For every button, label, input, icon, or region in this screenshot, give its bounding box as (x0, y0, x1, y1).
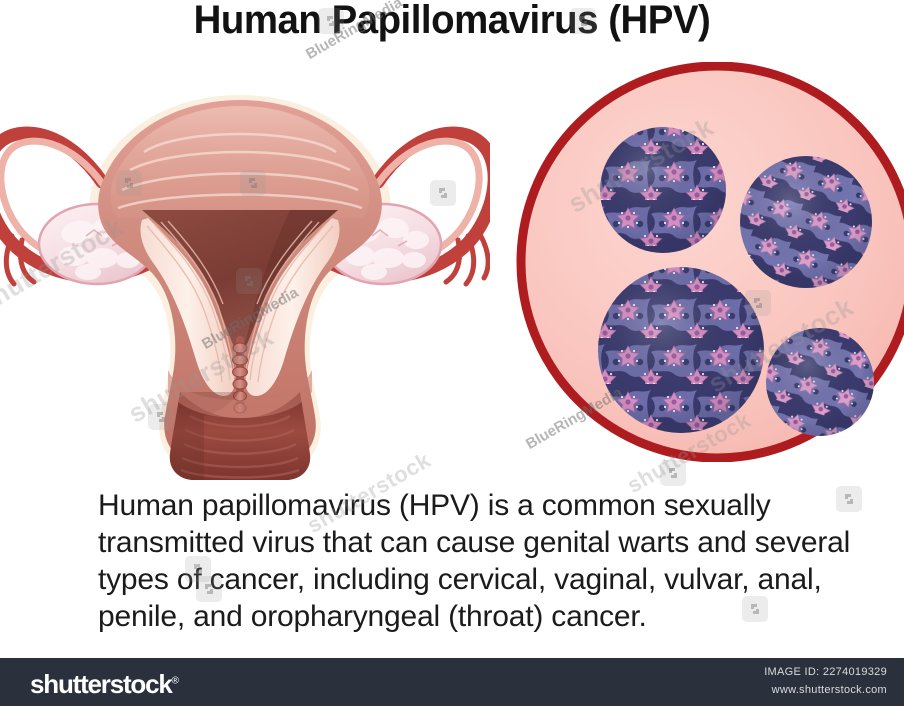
female-reproductive-anatomy-diagram (0, 40, 490, 480)
shutterstock-url[interactable]: www.shutterstock.com (772, 684, 887, 696)
illustration-page: Human Papillomavirus (HPV) (0, 0, 904, 706)
virion-bottom-right (766, 328, 874, 436)
virion-bottom-left (598, 267, 764, 433)
illustration-area (0, 40, 904, 480)
virion-top-left (600, 127, 726, 253)
registered-trademark: ® (172, 675, 178, 686)
shutterstock-logo-text: shutterstock (30, 669, 172, 699)
hpv-virus-magnification-circle (513, 62, 904, 462)
virion-top-right (740, 156, 872, 288)
footer-bar: shutterstock® IMAGE ID: 2274019329 www.s… (0, 658, 904, 706)
page-title: Human Papillomavirus (HPV) (18, 0, 886, 42)
description-paragraph: Human papillomavirus (HPV) is a common s… (98, 487, 898, 635)
image-id-label: IMAGE ID: 2274019329 (764, 666, 887, 678)
shutterstock-logo: shutterstock® (30, 669, 178, 700)
